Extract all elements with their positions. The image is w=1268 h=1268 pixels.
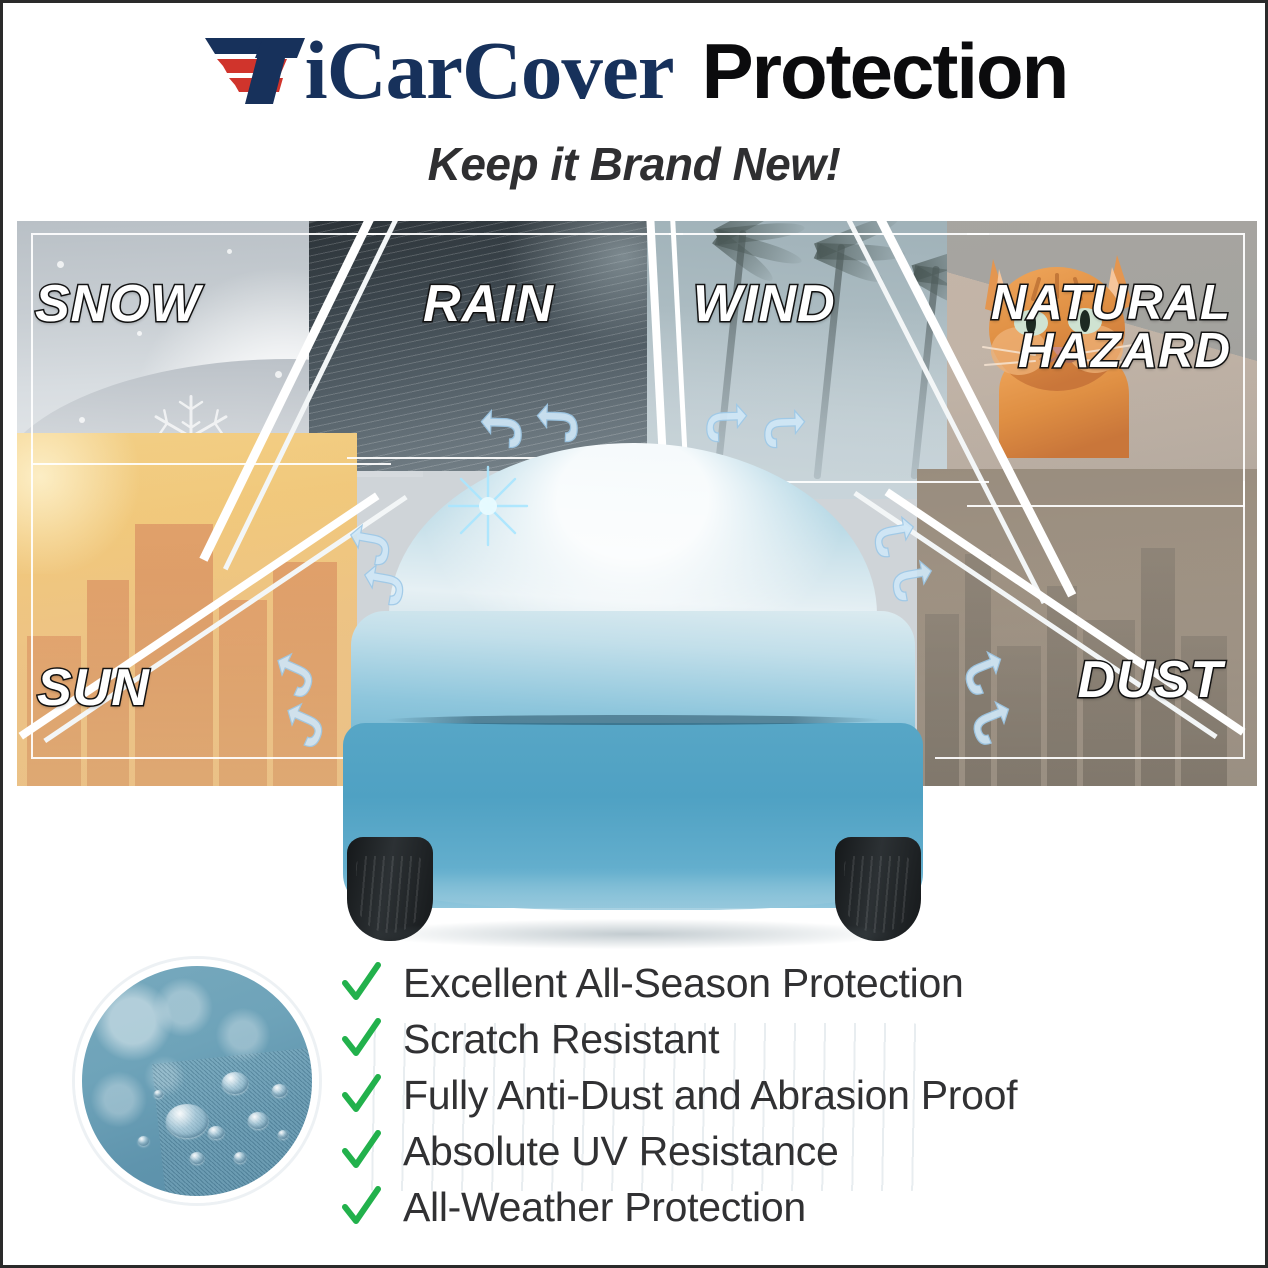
deflect-arrow-icon (867, 511, 920, 564)
panel-label-snow: SNOW (35, 279, 201, 330)
product-infographic: iCarCover Protection Keep it Brand New! (0, 0, 1268, 1268)
water-droplet (272, 1084, 287, 1097)
list-item: All-Weather Protection (341, 1179, 1161, 1235)
check-icon (341, 1129, 381, 1173)
water-droplet (138, 1136, 149, 1146)
water-droplet (222, 1072, 248, 1094)
list-item: Absolute UV Resistance (341, 1123, 1161, 1179)
panel-label-sun: SUN (37, 663, 150, 714)
car-with-blue-cover (333, 443, 933, 943)
deflect-arrow-icon (760, 406, 808, 454)
list-item: Excellent All-Season Protection (341, 955, 1161, 1011)
panel-label-dust: DUST (1077, 655, 1223, 706)
water-droplet (208, 1126, 224, 1139)
icarcover-wing-logo-icon (201, 30, 309, 112)
cover-body (333, 443, 933, 903)
panel-frame (31, 233, 391, 465)
feature-text: Excellent All-Season Protection (403, 960, 963, 1007)
feature-list: Excellent All-Season Protection Scratch … (341, 955, 1161, 1235)
list-item: Fully Anti-Dust and Abrasion Proof (341, 1067, 1161, 1123)
water-droplet (154, 1090, 163, 1098)
feature-text: Scratch Resistant (403, 1016, 719, 1063)
check-icon (341, 1185, 381, 1229)
deflect-arrow-icon (534, 400, 582, 448)
deflect-arrow-icon (885, 555, 938, 608)
water-droplet (190, 1152, 204, 1164)
water-droplet (234, 1152, 246, 1163)
deflect-arrow-icon (357, 559, 410, 612)
water-droplet (166, 1104, 208, 1138)
water-droplet (248, 1112, 268, 1129)
feature-text: All-Weather Protection (403, 1184, 806, 1231)
check-icon (341, 1017, 381, 1061)
list-item: Scratch Resistant (341, 1011, 1161, 1067)
headline-word: Protection (702, 32, 1068, 110)
check-icon (341, 1073, 381, 1117)
water-beading-fabric-swatch (75, 959, 319, 1203)
panel-label-wind: WIND (693, 279, 836, 330)
deflect-arrow-icon (478, 406, 526, 454)
panel-label-rain: RAIN (423, 279, 554, 330)
header: iCarCover Protection (3, 29, 1265, 112)
deflect-arrow-icon (702, 400, 750, 448)
cover-seam (385, 715, 881, 725)
tagline: Keep it Brand New! (3, 137, 1265, 191)
feature-text: Absolute UV Resistance (403, 1128, 839, 1175)
water-droplet (278, 1130, 288, 1139)
brand-name: iCarCover (305, 29, 674, 112)
panel-label-hazard: NATURAL HAZARD (991, 279, 1231, 375)
feature-text: Fully Anti-Dust and Abrasion Proof (403, 1072, 1017, 1119)
check-icon (341, 961, 381, 1005)
ground-shadow (373, 919, 893, 949)
